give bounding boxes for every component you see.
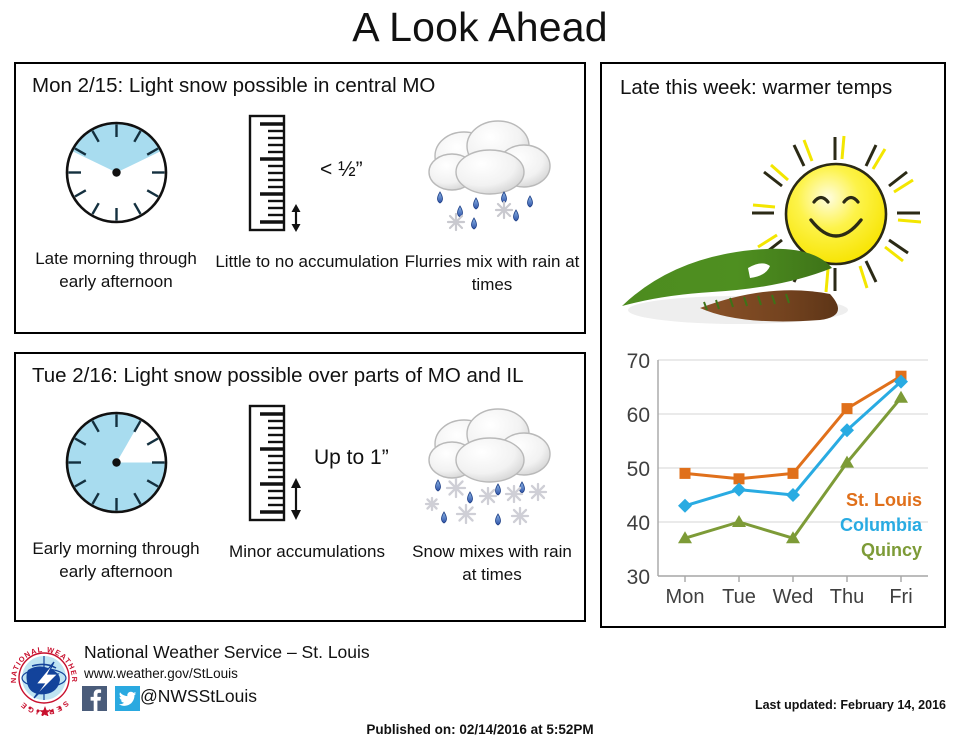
- monday-timing-caption: Late morning through early afternoon: [26, 247, 206, 293]
- panel-late-week: Late this week: warmer temps: [600, 62, 946, 628]
- data-point: [842, 403, 853, 414]
- legend-item-columbia: Columbia: [840, 515, 923, 535]
- data-point: [894, 391, 908, 403]
- panel-tuesday: Tue 2/16: Light snow possible over parts…: [14, 352, 586, 622]
- data-point: [732, 515, 746, 527]
- tuesday-accumulation-caption: Minor accumulations: [212, 540, 402, 563]
- nws-social-handle: @NWSStLouis: [140, 686, 257, 707]
- panel-monday: Mon 2/15: Light snow possible in central…: [14, 62, 586, 334]
- last-updated-text: Last updated: February 14, 2016: [755, 698, 946, 712]
- clock-icon-tuesday: [54, 400, 179, 525]
- twitter-icon[interactable]: [115, 686, 140, 711]
- y-axis-tick-label: 30: [627, 566, 650, 589]
- data-point: [678, 499, 692, 513]
- y-axis-tick-label: 50: [627, 458, 650, 481]
- ruler-icon-tuesday: Up to 1”: [222, 400, 392, 528]
- ruler-icon-monday: < ½”: [222, 110, 392, 238]
- data-point: [732, 483, 746, 497]
- panel-week-heading: Late this week: warmer temps: [620, 76, 892, 100]
- nws-website-url[interactable]: www.weather.gov/StLouis: [84, 666, 238, 681]
- series-line-st-louis: [685, 376, 901, 479]
- monday-precip-caption: Flurries mix with rain at times: [404, 250, 580, 296]
- tuesday-timing-block: Early morning through early afternoon: [26, 400, 206, 583]
- tuesday-timing-caption: Early morning through early afternoon: [26, 537, 206, 583]
- tuesday-precip-block: Snow mixes with rain at times: [404, 400, 580, 586]
- sun-and-hill-illustration: [608, 98, 942, 348]
- monday-accumulation-label: < ½”: [320, 158, 363, 182]
- temperature-trend-chart: 3040506070MonTueWedThuFriSt. LouisColumb…: [610, 350, 940, 618]
- monday-precip-block: Flurries mix with rain at times: [404, 110, 580, 296]
- monday-timing-block: Late morning through early afternoon: [26, 110, 206, 293]
- panel-tuesday-heading: Tue 2/16: Light snow possible over parts…: [32, 364, 524, 388]
- y-axis-tick-label: 70: [627, 350, 650, 373]
- legend-item-quincy: Quincy: [861, 540, 922, 560]
- published-text: Published on: 02/14/2016 at 5:52PM: [0, 722, 960, 737]
- facebook-icon[interactable]: [82, 686, 107, 711]
- data-point: [680, 468, 691, 479]
- monday-accumulation-block: < ½” Little to no accumulation: [212, 110, 402, 273]
- x-axis-tick-label: Thu: [830, 586, 864, 608]
- clock-icon-monday: [54, 110, 179, 235]
- footer: NATIONAL WEATHER SERVICE National Weathe…: [0, 636, 960, 740]
- x-axis-tick-label: Tue: [722, 586, 756, 608]
- page-title: A Look Ahead: [0, 4, 960, 51]
- panel-monday-heading: Mon 2/15: Light snow possible in central…: [32, 74, 435, 98]
- y-axis-tick-label: 40: [627, 512, 650, 535]
- y-axis-tick-label: 60: [627, 404, 650, 427]
- x-axis-tick-label: Mon: [666, 586, 705, 608]
- series-line-columbia: [685, 382, 901, 506]
- tuesday-precip-caption: Snow mixes with rain at times: [404, 540, 580, 586]
- tuesday-accumulation-label: Up to 1”: [314, 446, 389, 470]
- tuesday-accumulation-block: Up to 1” Minor accumulations: [212, 400, 402, 563]
- x-axis-tick-label: Wed: [773, 586, 814, 608]
- social-links: [82, 686, 140, 712]
- infographic-page: A Look Ahead Mon 2/15: Light snow possib…: [0, 0, 960, 740]
- monday-accumulation-caption: Little to no accumulation: [212, 250, 402, 273]
- nws-office-name: National Weather Service – St. Louis: [84, 642, 370, 663]
- x-axis-tick-label: Fri: [889, 586, 912, 608]
- rain-snow-cloud-icon-monday: [412, 110, 572, 240]
- data-point: [788, 468, 799, 479]
- snow-rain-cloud-icon-tuesday: [412, 400, 572, 530]
- nws-logo-icon: NATIONAL WEATHER SERVICE: [6, 640, 82, 716]
- legend-item-st-louis: St. Louis: [846, 490, 922, 510]
